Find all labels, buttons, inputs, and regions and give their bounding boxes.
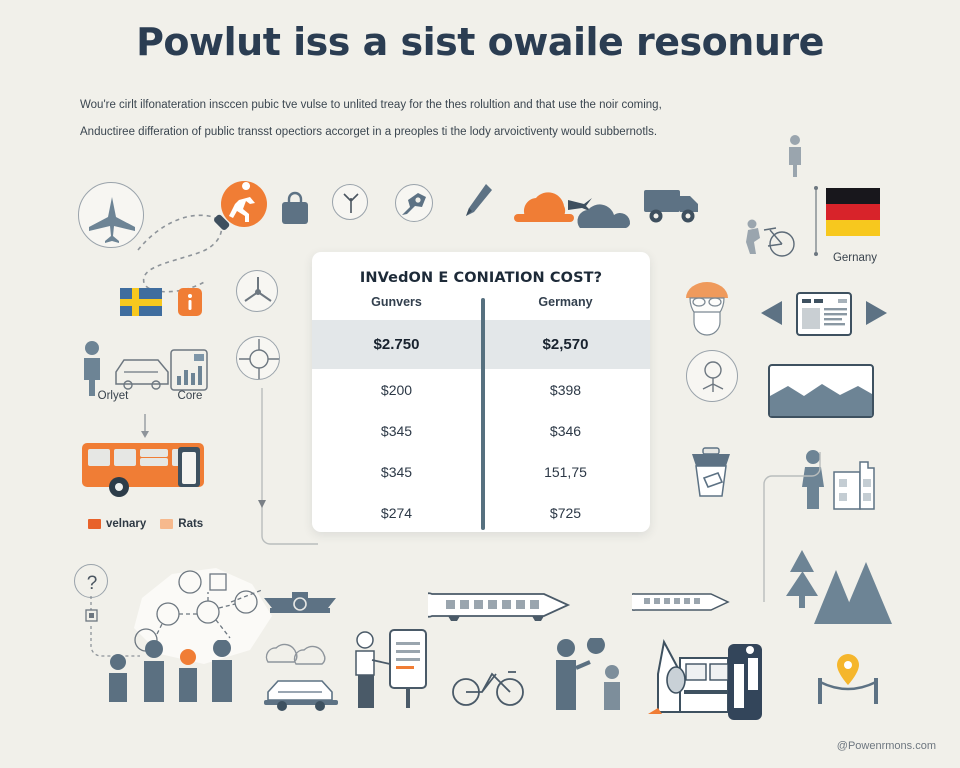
life-ring-icon xyxy=(236,336,280,380)
bicycle-icon xyxy=(452,662,524,713)
cell-left: $345 xyxy=(312,423,481,439)
cell-right: $2,570 xyxy=(481,336,650,353)
magnifier-runner-icon xyxy=(208,178,270,245)
clouds-icon xyxy=(264,636,334,673)
card-title: INVedON E CONIATION COST? xyxy=(312,270,650,286)
cabin-interior-icon xyxy=(646,628,770,725)
cell-right: 151,75 xyxy=(481,464,650,480)
legend: velnary Rats xyxy=(88,518,203,530)
train-small-icon xyxy=(632,590,732,621)
page-title: Powlut iss a sist owaile resonure xyxy=(0,20,960,64)
core-label: Core xyxy=(160,390,220,402)
german-flag-icon xyxy=(824,188,884,251)
info-badge-icon xyxy=(178,288,202,321)
arrow-left-icon[interactable] xyxy=(758,298,786,333)
landscape-panel-icon xyxy=(768,364,874,423)
cell-left: $200 xyxy=(312,382,481,398)
bus-icon xyxy=(78,437,214,506)
map-pin-barrier-icon xyxy=(812,650,884,711)
cloud-icon xyxy=(572,196,638,237)
cell-left: $345 xyxy=(312,464,481,480)
swedish-flag-icon xyxy=(120,288,162,321)
subtitle-line-2: Anductiree differation of public transst… xyxy=(80,119,890,146)
truck-icon xyxy=(642,184,704,233)
column-divider xyxy=(481,298,485,530)
standing-person-icon xyxy=(784,134,806,183)
subtitle-line-1: Wou're cirlt ilfonateration insccen pubi… xyxy=(80,92,890,119)
sprout-icon xyxy=(686,350,738,402)
bridge-icon xyxy=(262,588,338,627)
people-group-icon xyxy=(100,640,240,707)
question-mark-icon: ? xyxy=(74,564,108,598)
legend-label: Rats xyxy=(178,518,203,530)
pencil-icon xyxy=(460,180,496,229)
people-pin-icon xyxy=(548,638,628,715)
germany-label: Gernany xyxy=(820,252,890,264)
orlyet-label: Orlyet xyxy=(78,390,148,402)
cell-right: $725 xyxy=(481,505,650,521)
column-header-right: Germany xyxy=(481,295,650,309)
cell-left: $274 xyxy=(312,505,481,521)
tree-icon xyxy=(332,184,368,220)
germany-pointer-line xyxy=(812,186,820,258)
cell-left: $2.750 xyxy=(312,336,481,353)
train-icon xyxy=(428,588,574,627)
trees-mountain-icon xyxy=(784,540,896,629)
legend-item: Rats xyxy=(160,518,203,530)
legend-label: velnary xyxy=(106,518,146,530)
fan-icon xyxy=(236,270,278,312)
svg-text:?: ? xyxy=(87,573,98,594)
worker-helmet-icon xyxy=(676,272,738,341)
arrow-right-icon[interactable] xyxy=(862,298,890,333)
legend-swatch xyxy=(88,519,101,529)
cell-right: $346 xyxy=(481,423,650,439)
car-icon xyxy=(262,670,340,717)
footer-watermark: @Powenrmons.com xyxy=(837,740,936,752)
cyclist-icon xyxy=(740,212,800,265)
infographic-canvas: Powlut iss a sist owaile resonure Wou're… xyxy=(0,0,960,768)
page-subtitle: Wou're cirlt ilfonateration insccen pubi… xyxy=(80,92,890,146)
column-header-left: Gunvers xyxy=(312,295,481,309)
bracket-connector-left xyxy=(222,388,322,558)
person-kiosk-icon xyxy=(350,628,428,715)
comparison-card: INVedON E CONIATION COST? Gunvers German… xyxy=(312,252,650,532)
rocket-icon xyxy=(395,184,433,222)
waste-bin-icon xyxy=(686,442,736,505)
legend-swatch xyxy=(160,519,173,529)
document-card-icon xyxy=(796,292,852,341)
legend-item: velnary xyxy=(88,518,146,530)
bag-icon xyxy=(278,188,312,233)
cell-right: $398 xyxy=(481,382,650,398)
